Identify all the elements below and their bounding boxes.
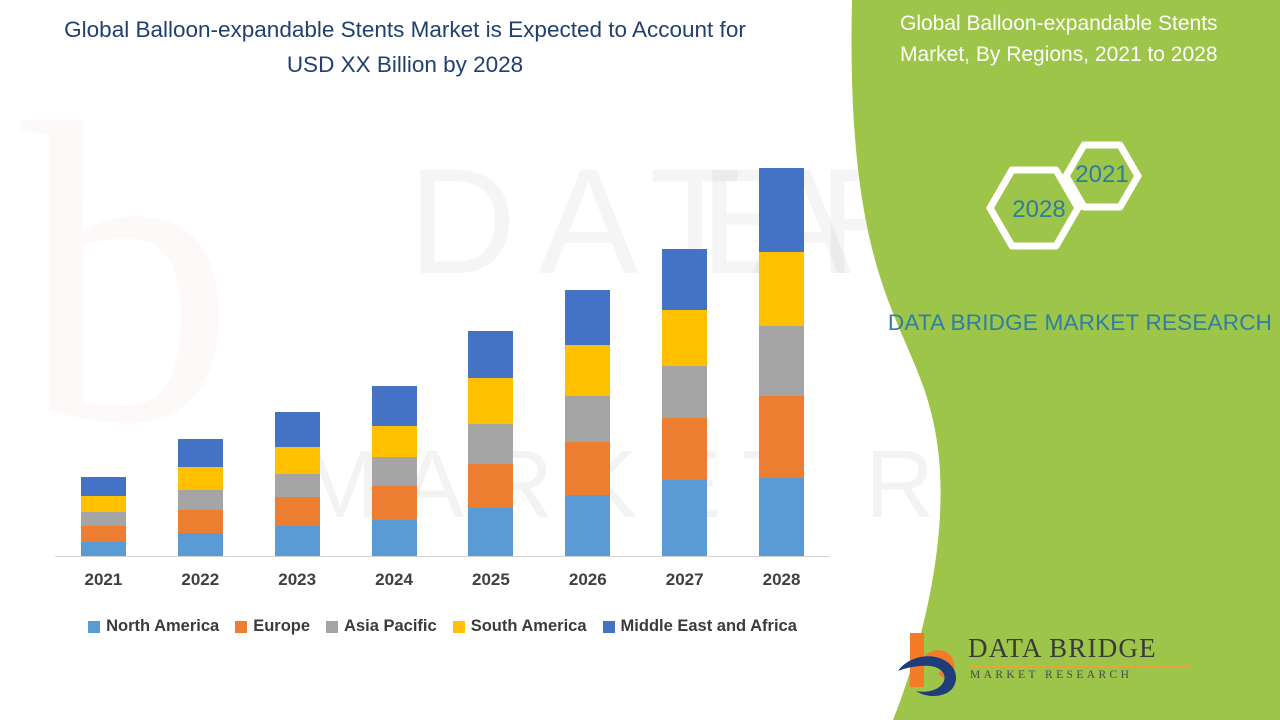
x-tick-2025: 2025 bbox=[443, 570, 540, 590]
x-tick-2026: 2026 bbox=[539, 570, 636, 590]
x-axis-line bbox=[55, 556, 830, 557]
legend-item-asia-pacific[interactable]: Asia Pacific bbox=[326, 617, 437, 636]
legend-swatch-icon bbox=[88, 621, 100, 633]
segment-south-america bbox=[275, 447, 320, 474]
legend-label: Asia Pacific bbox=[344, 617, 437, 636]
bar-2021 bbox=[81, 477, 126, 557]
segment-asia-pacific bbox=[275, 474, 320, 498]
bar-2027 bbox=[662, 249, 707, 557]
legend-swatch-icon bbox=[326, 621, 338, 633]
x-tick-2024: 2024 bbox=[346, 570, 443, 590]
segment-middle-east-and-africa bbox=[372, 386, 417, 427]
bar-2026 bbox=[565, 290, 610, 557]
legend-swatch-icon bbox=[235, 621, 247, 633]
segment-middle-east-and-africa bbox=[81, 477, 126, 496]
segment-europe bbox=[468, 464, 513, 508]
segment-asia-pacific bbox=[759, 326, 804, 397]
company-logo: DATA BRIDGE MARKET RESEARCH bbox=[890, 625, 1280, 705]
segment-europe bbox=[372, 486, 417, 519]
segment-asia-pacific bbox=[468, 424, 513, 464]
hexagon-label-2021: 2021 bbox=[1063, 161, 1141, 189]
segment-middle-east-and-africa bbox=[178, 439, 223, 467]
legend-label: North America bbox=[106, 617, 219, 636]
right-panel: Global Balloon-expandable Stents Market,… bbox=[880, 0, 1280, 720]
segment-south-america bbox=[81, 496, 126, 512]
legend-label: Middle East and Africa bbox=[621, 617, 797, 636]
segment-south-america bbox=[468, 378, 513, 424]
legend-item-north-america[interactable]: North America bbox=[88, 617, 219, 636]
chart-legend: North AmericaEuropeAsia PacificSouth Ame… bbox=[55, 617, 830, 636]
segment-north-america bbox=[275, 526, 320, 557]
segment-north-america bbox=[81, 542, 126, 557]
segment-asia-pacific bbox=[662, 366, 707, 417]
logo-tagline: MARKET RESEARCH bbox=[970, 669, 1132, 681]
segment-south-america bbox=[662, 310, 707, 367]
segment-europe bbox=[275, 497, 320, 526]
segment-middle-east-and-africa bbox=[468, 331, 513, 378]
segment-south-america bbox=[178, 467, 223, 489]
segment-south-america bbox=[565, 345, 610, 396]
brand-name: DATA BRIDGE MARKET RESEARCH bbox=[880, 307, 1280, 339]
segment-north-america bbox=[759, 478, 804, 557]
bar-2028 bbox=[759, 168, 804, 557]
segment-asia-pacific bbox=[372, 457, 417, 486]
logo-divider bbox=[970, 665, 1192, 667]
segment-europe bbox=[662, 418, 707, 480]
legend-label: South America bbox=[471, 617, 587, 636]
segment-asia-pacific bbox=[178, 490, 223, 510]
panel-title: Global Balloon-expandable Stents Market,… bbox=[900, 8, 1275, 70]
segment-middle-east-and-africa bbox=[759, 168, 804, 252]
segment-middle-east-and-africa bbox=[662, 249, 707, 310]
logo-mark-icon bbox=[894, 627, 970, 699]
segment-north-america bbox=[468, 508, 513, 557]
legend-item-middle-east-and-africa[interactable]: Middle East and Africa bbox=[603, 617, 797, 636]
hexagon-label-2028: 2028 bbox=[1000, 196, 1078, 224]
segment-north-america bbox=[178, 533, 223, 557]
slide-canvas: b DATA BRIDGE MARKET RESEARCH Global Bal… bbox=[0, 0, 1280, 720]
x-tick-2028: 2028 bbox=[733, 570, 830, 590]
segment-asia-pacific bbox=[81, 512, 126, 526]
x-tick-2027: 2027 bbox=[636, 570, 733, 590]
segment-middle-east-and-africa bbox=[275, 412, 320, 446]
chart-area: Global Balloon-expandable Stents Market … bbox=[0, 0, 845, 720]
bar-2024 bbox=[372, 386, 417, 557]
segment-europe bbox=[81, 526, 126, 542]
segment-europe bbox=[178, 510, 223, 534]
segment-south-america bbox=[759, 252, 804, 326]
legend-item-south-america[interactable]: South America bbox=[453, 617, 587, 636]
segment-north-america bbox=[662, 480, 707, 557]
page-title: Global Balloon-expandable Stents Market … bbox=[40, 12, 770, 82]
x-tick-2022: 2022 bbox=[152, 570, 249, 590]
bar-2025 bbox=[468, 331, 513, 557]
legend-swatch-icon bbox=[453, 621, 465, 633]
hexagon-svg bbox=[880, 120, 1280, 300]
segment-asia-pacific bbox=[565, 396, 610, 442]
bar-plot bbox=[55, 150, 830, 557]
segment-south-america bbox=[372, 426, 417, 457]
segment-europe bbox=[759, 396, 804, 477]
bar-2022 bbox=[178, 439, 223, 557]
segment-north-america bbox=[565, 495, 610, 557]
hexagon-badges: 2028 2021 bbox=[880, 120, 1280, 300]
segment-middle-east-and-africa bbox=[565, 290, 610, 345]
segment-north-america bbox=[372, 520, 417, 557]
x-axis-tick-labels: 20212022202320242025202620272028 bbox=[55, 566, 830, 596]
bar-2023 bbox=[275, 412, 320, 557]
legend-item-europe[interactable]: Europe bbox=[235, 617, 310, 636]
x-tick-2023: 2023 bbox=[249, 570, 346, 590]
legend-swatch-icon bbox=[603, 621, 615, 633]
segment-europe bbox=[565, 442, 610, 494]
logo-wordmark: DATA BRIDGE bbox=[968, 633, 1157, 664]
legend-label: Europe bbox=[253, 617, 310, 636]
x-tick-2021: 2021 bbox=[55, 570, 152, 590]
